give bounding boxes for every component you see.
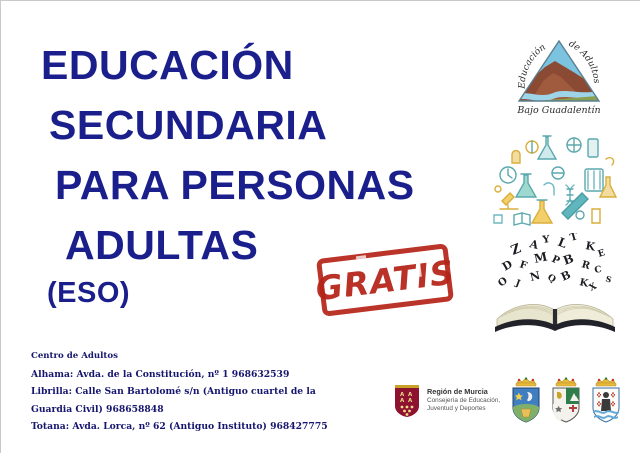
logo-base-text: Bajo Guadalentín: [516, 105, 600, 116]
headline-line-2: SECUNDARIA: [39, 95, 509, 155]
educacion-adultos-logo: Educación de Adultos Bajo Guadalentín: [503, 29, 615, 117]
svg-text:L: L: [556, 235, 570, 251]
svg-text:M: M: [533, 249, 549, 265]
murcia-name: Región de Murcia: [427, 388, 500, 396]
svg-text:S: S: [604, 273, 613, 284]
svg-text:E: E: [597, 248, 607, 260]
svg-text:D: D: [500, 257, 515, 273]
region-de-murcia-logo: AA AA Región de Murcia Consejería de Edu…: [394, 384, 500, 418]
svg-text:A: A: [400, 398, 405, 404]
murcia-shield-icon: AA AA: [394, 384, 420, 418]
svg-text:C: C: [594, 265, 603, 276]
svg-text:X: X: [588, 282, 599, 294]
contact-title: Centro de Adultos: [31, 348, 361, 366]
contact-line-librilla-2: Guardia Civil) 968658848: [31, 401, 361, 419]
poster-page: EDUCACIÓN SECUNDARIA PARA PERSONAS ADULT…: [0, 0, 640, 453]
escudo-totana-icon: [589, 377, 623, 423]
svg-text:O: O: [496, 275, 510, 289]
svg-text:P: P: [550, 254, 562, 267]
svg-text:J: J: [513, 278, 521, 289]
svg-text:K: K: [584, 239, 596, 254]
svg-text:B: B: [559, 268, 573, 284]
svg-text:A: A: [527, 237, 540, 252]
svg-text:B: B: [561, 251, 575, 268]
triangle-mountain-icon: Educación de Adultos Bajo Guadalentín: [503, 29, 615, 117]
escudo-alhama-icon: [509, 377, 543, 423]
svg-text:R: R: [580, 259, 592, 272]
escudo-librilla-icon: [549, 377, 583, 423]
svg-text:F: F: [518, 259, 528, 272]
svg-text:T: T: [569, 233, 580, 244]
headline-line-1: EDUCACIÓN: [39, 35, 509, 95]
svg-text:K: K: [578, 277, 589, 290]
contact-line-alhama: Alhama: Avda. de la Constitución, nº 1 9…: [31, 366, 361, 384]
svg-text:N: N: [529, 269, 542, 284]
open-book-illustration: Z A Y L T K E D F M P B R C O J N Q B K: [485, 233, 625, 335]
svg-text:Z: Z: [509, 241, 524, 259]
svg-text:Q: Q: [546, 273, 558, 286]
svg-text:Y: Y: [541, 234, 551, 246]
contact-line-totana: Totana: Avda. Lorca, nº 62 (Antiguo Inst…: [31, 418, 361, 436]
murcia-text-block: Región de Murcia Consejería de Educación…: [427, 388, 500, 413]
headline-line-3: PARA PERSONAS: [39, 155, 509, 215]
murcia-dept-line-2: Juventud y Deportes: [427, 405, 500, 413]
contact-info: Centro de Adultos Alhama: Avda. de la Co…: [31, 348, 361, 436]
contact-line-librilla-1: Librilla: Calle San Bartolomé s/n (Antig…: [31, 383, 361, 401]
municipal-shields: [509, 377, 623, 423]
open-book-icon: Z A Y L T K E D F M P B R C O J N Q B K: [485, 233, 625, 335]
murcia-dept-line-1: Consejería de Educación,: [427, 397, 500, 405]
science-icons-collage: [488, 129, 620, 227]
science-collage-icon: [488, 129, 620, 227]
svg-text:A: A: [408, 398, 413, 404]
